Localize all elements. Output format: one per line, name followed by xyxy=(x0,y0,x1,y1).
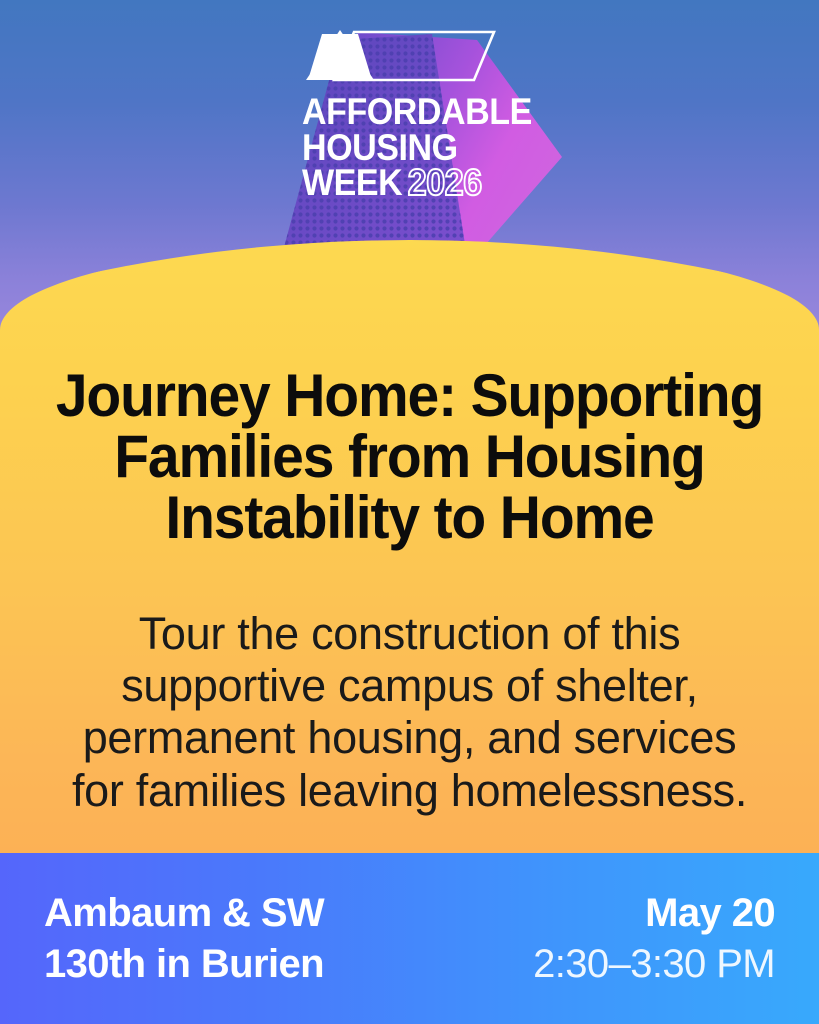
desc-line-3: permanent housing, and services xyxy=(83,712,737,763)
event-time: 2:30–3:30 PM xyxy=(533,939,775,989)
yellow-content-panel: Journey Home: Supporting Families from H… xyxy=(0,240,819,853)
location-line-2: 130th in Burien xyxy=(44,939,324,989)
event-datetime: May 20 2:30–3:30 PM xyxy=(533,888,775,989)
footer-details-bar: Ambaum & SW 130th in Burien May 20 2:30–… xyxy=(0,853,819,1024)
affordable-housing-week-logo: AFFORDABLE HOUSING WEEK 2026 xyxy=(262,22,572,272)
title-container: Journey Home: Supporting Families from H… xyxy=(0,365,819,549)
title-line-2: Families from Housing xyxy=(114,423,704,490)
title-line-1: Journey Home: Supporting xyxy=(56,362,763,429)
event-location: Ambaum & SW 130th in Burien xyxy=(44,888,324,989)
desc-line-2: supportive campus of shelter, xyxy=(121,660,698,711)
desc-line-4: for families leaving homelessness. xyxy=(72,765,747,816)
location-line-1: Ambaum & SW xyxy=(44,888,324,938)
desc-line-1: Tour the construction of this xyxy=(139,608,681,659)
yellow-panel-inner: Journey Home: Supporting Families from H… xyxy=(0,240,819,853)
title-line-3: Instability to Home xyxy=(165,484,653,551)
description-container: Tour the construction of this supportive… xyxy=(0,608,819,817)
event-date: May 20 xyxy=(533,888,775,938)
event-poster: AFFORDABLE HOUSING WEEK 2026 Journey Hom… xyxy=(0,0,819,1024)
event-title: Journey Home: Supporting Families from H… xyxy=(53,365,766,549)
logo-graphic xyxy=(262,22,572,272)
event-description: Tour the construction of this supportive… xyxy=(50,608,769,817)
